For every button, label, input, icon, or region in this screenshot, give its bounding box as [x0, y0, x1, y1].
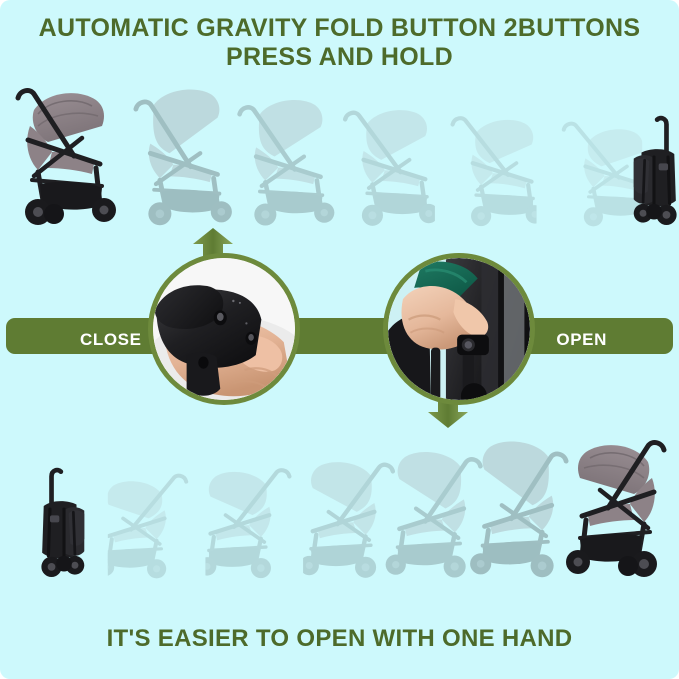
unfold-sequence-bottom [0, 424, 679, 584]
stroller-frame-unfold-2 [205, 456, 304, 584]
stroller-frame-fold-4 [437, 104, 536, 232]
open-inset-photo [383, 253, 535, 405]
stroller-frame-folded [33, 465, 95, 584]
stroller-frame-open [556, 432, 674, 584]
stroller-frame-folded [623, 113, 679, 232]
page-title: AUTOMATIC GRAVITY FOLD BUTTON 2BUTTONS P… [0, 14, 679, 72]
fold-sequence-top [0, 72, 679, 232]
title-line-2: PRESS AND HOLD [26, 43, 653, 72]
title-line-1: AUTOMATIC GRAVITY FOLD BUTTON 2BUTTONS [39, 14, 641, 42]
stroller-frame-fold-1 [124, 86, 237, 232]
close-inset-photo [148, 253, 300, 405]
footer-caption: IT'S EASIER TO OPEN WITH ONE HAND [0, 625, 679, 653]
stroller-frame-unfold-1 [108, 462, 202, 584]
stroller-frame-fold-2 [227, 92, 336, 232]
product-infographic: AUTOMATIC GRAVITY FOLD BUTTON 2BUTTONS P… [0, 0, 679, 679]
stroller-frame-fold-3 [331, 98, 435, 232]
stroller-frame-open [8, 80, 126, 232]
open-label: OPEN [556, 330, 607, 350]
close-label: CLOSE [80, 330, 142, 350]
